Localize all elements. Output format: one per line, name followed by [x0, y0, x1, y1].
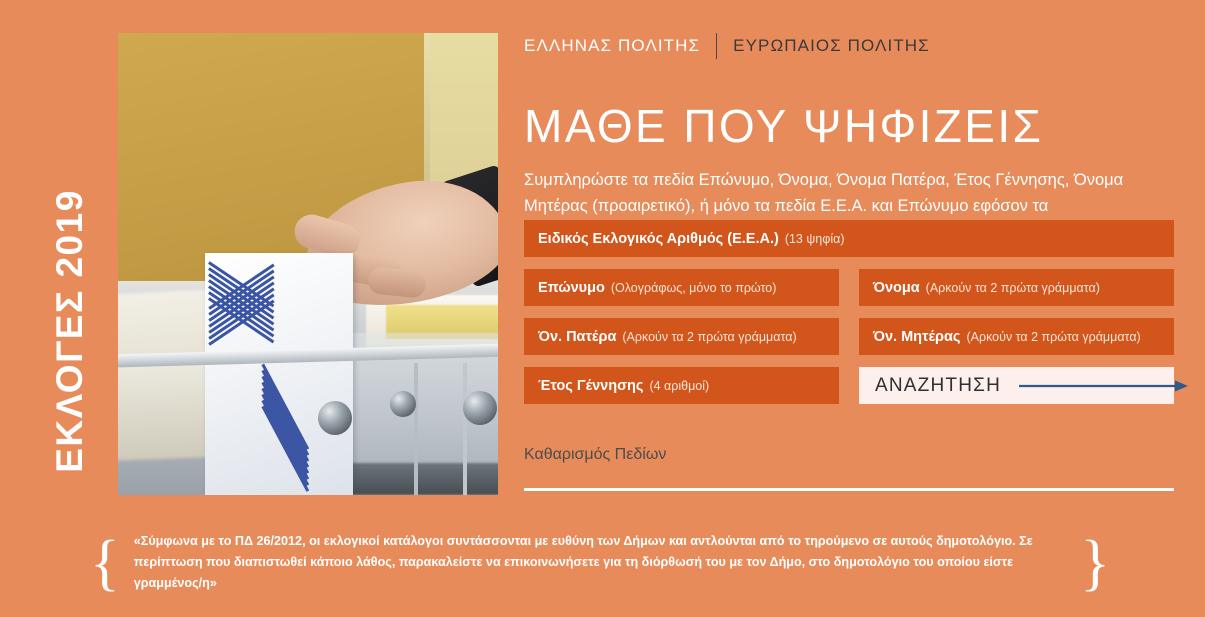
field-mother-name[interactable]: Όν. Μητέρας (Αρκούν τα 2 πρώτα γράμματα) — [859, 318, 1174, 355]
photo-box-knob-3 — [463, 391, 497, 425]
field-hint-mother-name: (Αρκούν τα 2 πρώτα γράμματα) — [966, 330, 1140, 344]
content-column: ΕΛΛΗΝΑΣ ΠΟΛΙΤΗΣ ΕΥΡΩΠΑΙΟΣ ΠΟΛΙΤΗΣ ΜΑΘΕ Π… — [524, 0, 1174, 617]
vertical-banner: ΕΚΛΟΓΕΣ 2019 — [0, 0, 118, 617]
photo-box-rail-vertical-2 — [463, 363, 467, 495]
form-row-parents: Όν. Πατέρα (Αρκούν τα 2 πρώτα γράμματα) … — [524, 318, 1174, 355]
section-divider — [524, 488, 1174, 491]
arrow-right-icon — [1019, 379, 1189, 393]
field-label-birth-year: Έτος Γέννησης — [538, 378, 643, 394]
form-row-surname-name: Επώνυμο (Ολογράφως, μόνο το πρώτο) Όνομα… — [524, 269, 1174, 306]
field-first-name[interactable]: Όνομα (Αρκούν τα 2 πρώτα γράμματα) — [859, 269, 1174, 306]
search-button[interactable]: ΑΝΑΖΗΤΗΣΗ — [859, 367, 1174, 404]
form-row-birthyear-search: Έτος Γέννησης (4 αριθμοί) ΑΝΑΖΗΤΗΣΗ — [524, 367, 1174, 404]
photo-box-rail-vertical-1 — [414, 363, 418, 495]
photo-envelope-stripes — [205, 253, 353, 495]
field-label-father-name: Όν. Πατέρα — [538, 329, 616, 345]
field-hint-surname: (Ολογράφως, μόνο το πρώτο) — [611, 281, 777, 295]
field-label-first-name: Όνομα — [873, 280, 920, 296]
field-surname[interactable]: Επώνυμο (Ολογράφως, μόνο το πρώτο) — [524, 269, 839, 306]
field-label-mother-name: Όν. Μητέρας — [873, 329, 960, 345]
field-father-name[interactable]: Όν. Πατέρα (Αρκούν τα 2 πρώτα γράμματα) — [524, 318, 839, 355]
ballot-box-photo — [118, 33, 498, 495]
clear-fields-link[interactable]: Καθαρισμός Πεδίων — [524, 446, 666, 464]
footer-note-text: «Σύμφωνα με το ΠΔ 26/2012, οι εκλογικοί … — [134, 531, 1066, 594]
form-row-eea: Ειδικός Εκλογικός Αριθμός (Ε.Ε.Α.) (13 ψ… — [524, 220, 1174, 257]
field-birth-year[interactable]: Έτος Γέννησης (4 αριθμοί) — [524, 367, 839, 404]
tab-european-citizen[interactable]: ΕΥΡΩΠΑΙΟΣ ΠΟΛΙΤΗΣ — [717, 36, 946, 56]
citizen-type-tabs: ΕΛΛΗΝΑΣ ΠΟΛΙΤΗΣ ΕΥΡΩΠΑΙΟΣ ΠΟΛΙΤΗΣ — [524, 33, 946, 59]
voter-search-form: Ειδικός Εκλογικός Αριθμός (Ε.Ε.Α.) (13 ψ… — [524, 220, 1174, 416]
footer-note: { «Σύμφωνα με το ΠΔ 26/2012, οι εκλογικο… — [90, 531, 1110, 594]
page-title: ΜΑΘΕ ΠΟΥ ΨΗΦΙΖΕΙΣ — [524, 99, 1043, 153]
field-special-electoral-number[interactable]: Ειδικός Εκλογικός Αριθμός (Ε.Ε.Α.) (13 ψ… — [524, 220, 1174, 257]
photo-box-knob-1 — [318, 401, 352, 435]
photo-box-knob-2 — [390, 391, 416, 417]
elections-year-label: ΕΚΛΟΓΕΣ 2019 — [49, 141, 91, 521]
field-hint-father-name: (Αρκούν τα 2 πρώτα γράμματα) — [622, 330, 796, 344]
field-label-surname: Επώνυμο — [538, 280, 605, 296]
search-button-label: ΑΝΑΖΗΤΗΣΗ — [875, 375, 1001, 397]
field-hint-eea: (13 ψηφία) — [785, 232, 845, 246]
tab-greek-citizen[interactable]: ΕΛΛΗΝΑΣ ΠΟΛΙΤΗΣ — [524, 36, 716, 56]
field-hint-first-name: (Αρκούν τα 2 πρώτα γράμματα) — [926, 281, 1100, 295]
field-hint-birth-year: (4 αριθμοί) — [649, 379, 709, 393]
field-label-eea: Ειδικός Εκλογικός Αριθμός (Ε.Ε.Α.) — [538, 231, 779, 247]
